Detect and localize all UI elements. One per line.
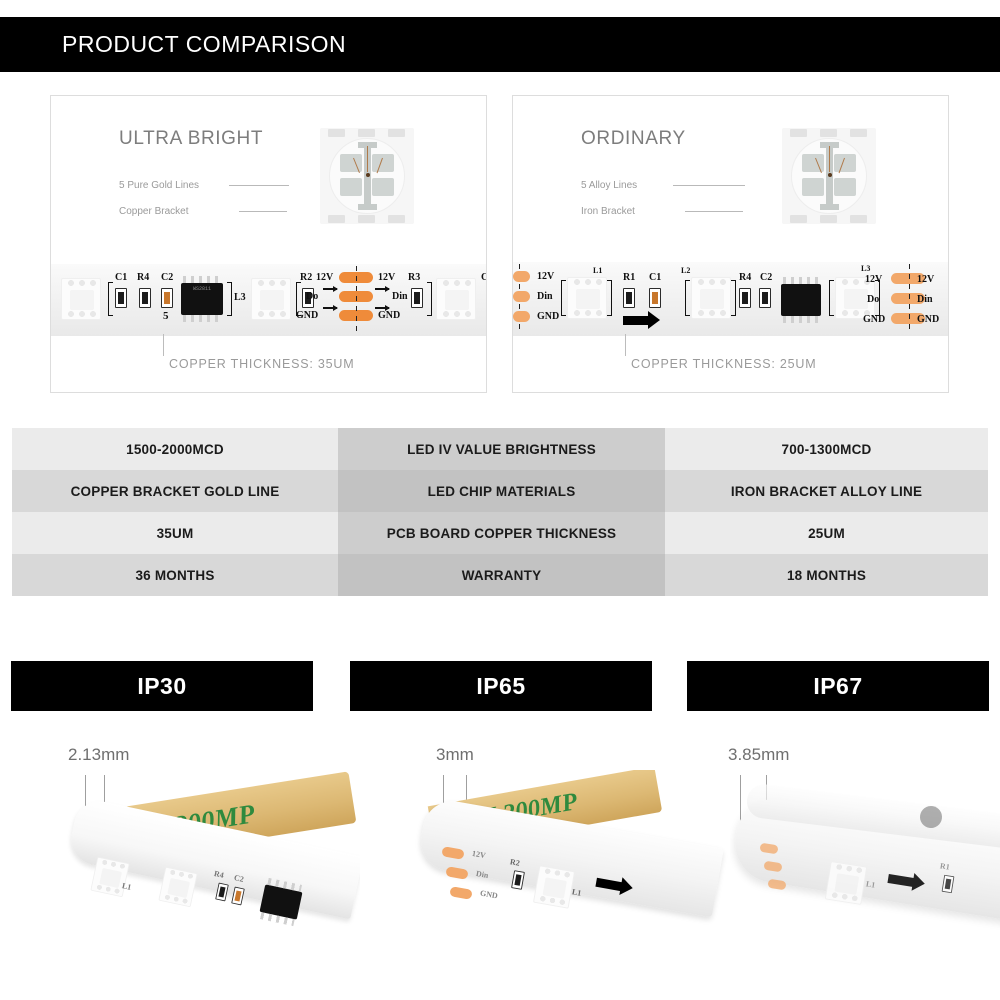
table-row: 36 MONTHS WARRANTY 18 MONTHS bbox=[12, 554, 988, 596]
pcb-label-gnd: GND bbox=[479, 889, 498, 901]
led-die bbox=[372, 178, 394, 196]
silkscreen-bracket bbox=[427, 282, 432, 316]
pcb-label-r4: R4 bbox=[739, 272, 751, 283]
smd-capacitor bbox=[649, 288, 661, 308]
pcb-strip-photo-ultra-bright: C1 R4 C2 5 WS2811 L3 R2 12V Do GND 12V D… bbox=[51, 264, 486, 336]
led-center-dot bbox=[366, 173, 370, 177]
pcb-label-r2: R2 bbox=[509, 857, 520, 868]
smd-capacitor bbox=[161, 288, 173, 308]
callout-copper-bracket: Copper Bracket bbox=[119, 206, 188, 217]
pcb-label-12v-2: 12V bbox=[865, 274, 882, 285]
copper-thickness-caption-left: COPPER THICKNESS: 35UM bbox=[169, 357, 354, 371]
led-pad bbox=[790, 215, 807, 223]
led-package bbox=[436, 278, 476, 320]
pcb-label-do: Do bbox=[867, 294, 879, 305]
silkscreen-bracket bbox=[561, 280, 566, 316]
iron-bracket-shape bbox=[820, 204, 839, 210]
led-pad bbox=[358, 215, 375, 223]
cut-line bbox=[909, 264, 910, 332]
signal-direction-arrow bbox=[323, 288, 337, 290]
table-row: COPPER BRACKET GOLD LINE LED CHIP MATERI… bbox=[12, 470, 988, 512]
led-package bbox=[825, 861, 867, 905]
cell-ultra-value: 36 MONTHS bbox=[12, 554, 338, 596]
led-die bbox=[834, 178, 856, 196]
pcb-strip-photo-ordinary: 12V Din GND L1 R1 C1 L2 R4 C2 L3 12V Do … bbox=[513, 262, 948, 336]
pcb-label-din: Din bbox=[392, 291, 408, 302]
signal-direction-arrow bbox=[375, 288, 389, 290]
smd-resistor bbox=[739, 288, 751, 308]
pcb-label-12v-right: 12V bbox=[378, 272, 395, 283]
leader-line bbox=[685, 211, 743, 212]
comparison-panel-ultra-bright: ULTRA BRIGHT 5 Pure Gold Lines Copper Br… bbox=[50, 95, 487, 393]
solder-pad-gnd bbox=[449, 886, 472, 900]
pcb-label-12v: 12V bbox=[537, 271, 554, 282]
thickness-pointer bbox=[625, 334, 626, 356]
cell-ultra-value: COPPER BRACKET GOLD LINE bbox=[12, 470, 338, 512]
pcb-label-din: Din bbox=[537, 291, 553, 302]
led-die bbox=[834, 154, 856, 172]
pcb-label-do: Do bbox=[306, 291, 318, 302]
callout-iron-bracket: Iron Bracket bbox=[581, 206, 635, 217]
page-title: PRODUCT COMPARISON bbox=[62, 31, 346, 58]
led-package bbox=[61, 278, 101, 320]
solder-pad-gnd bbox=[513, 311, 530, 322]
cell-attribute: LED IV VALUE BRIGHTNESS bbox=[338, 428, 665, 470]
ip-rating-badge-ip30: IP30 bbox=[11, 661, 313, 711]
ip-badge-label: IP65 bbox=[476, 673, 525, 700]
pcb-label-l1: L1 bbox=[571, 887, 582, 897]
pcb-label-r4: R4 bbox=[137, 272, 149, 283]
pcb-label-l1: L1 bbox=[121, 881, 132, 892]
led-package bbox=[533, 865, 575, 908]
pcb-label-l1: L1 bbox=[593, 266, 602, 275]
led-pad bbox=[850, 215, 867, 223]
smd-resistor bbox=[215, 883, 229, 902]
smd-resistor bbox=[511, 870, 525, 890]
driver-ic bbox=[781, 284, 821, 316]
led-pad bbox=[388, 129, 405, 137]
ip-rating-badge-ip65: IP65 bbox=[350, 661, 652, 711]
led-pad bbox=[820, 215, 837, 223]
pcb-label-gnd-right: GND bbox=[378, 310, 400, 321]
cell-ordinary-value: 25UM bbox=[665, 512, 988, 554]
led-pad bbox=[388, 215, 405, 223]
ws2811-ic: WS2811 bbox=[181, 283, 223, 315]
silkscreen-bracket bbox=[108, 282, 113, 316]
alloy-bond-wire bbox=[829, 146, 830, 172]
pcb-label-c2: C2 bbox=[161, 272, 173, 283]
pcb-label-12v-left: 12V bbox=[316, 272, 333, 283]
pcb-label-r1: R1 bbox=[623, 272, 635, 283]
smd-resistor bbox=[115, 288, 127, 308]
pcb-label-gnd-3: GND bbox=[917, 314, 939, 325]
cell-ordinary-value: 700-1300MCD bbox=[665, 428, 988, 470]
ic-marking: WS2811 bbox=[181, 286, 223, 292]
smd-resistor bbox=[411, 288, 423, 308]
cell-ordinary-value: 18 MONTHS bbox=[665, 554, 988, 596]
callout-alloy-lines: 5 Alloy Lines bbox=[581, 180, 637, 191]
smd-resistor bbox=[623, 288, 635, 308]
cell-attribute: LED CHIP MATERIALS bbox=[338, 470, 665, 512]
cell-ordinary-value: IRON BRACKET ALLOY LINE bbox=[665, 470, 988, 512]
pcb-label-l3: L3 bbox=[861, 264, 870, 273]
copper-bracket-shape bbox=[358, 204, 377, 210]
signal-direction-arrow bbox=[375, 307, 389, 309]
led-package bbox=[158, 867, 197, 908]
gold-bond-wire bbox=[367, 146, 368, 172]
pcb-label-l3: L3 bbox=[234, 292, 246, 303]
cell-ultra-value: 35UM bbox=[12, 512, 338, 554]
specification-comparison-table: 1500-2000MCD LED IV VALUE BRIGHTNESS 700… bbox=[12, 428, 988, 596]
copper-thickness-caption-right: COPPER THICKNESS: 25UM bbox=[631, 357, 816, 371]
led-pad bbox=[328, 129, 345, 137]
silkscreen-bracket bbox=[685, 280, 690, 316]
pcb-label-c2: C2 bbox=[760, 272, 772, 283]
silkscreen-bracket bbox=[227, 282, 232, 316]
table-row: 1500-2000MCD LED IV VALUE BRIGHTNESS 700… bbox=[12, 428, 988, 470]
led-package bbox=[567, 277, 607, 319]
pcb-label-r2: R2 bbox=[300, 272, 312, 283]
pcb-label-l1: L1 bbox=[865, 879, 876, 889]
led-package bbox=[90, 857, 129, 898]
smd-capacitor bbox=[231, 887, 245, 906]
cell-ultra-value: 1500-2000MCD bbox=[12, 428, 338, 470]
leader-line bbox=[239, 211, 287, 212]
smd-resistor bbox=[139, 288, 151, 308]
panel-title-ultra-bright: ULTRA BRIGHT bbox=[119, 128, 263, 150]
ip-badge-label: IP67 bbox=[813, 673, 862, 700]
pcb-label-12v-3: 12V bbox=[917, 274, 934, 285]
led-center-dot bbox=[828, 173, 832, 177]
silkscreen-bracket bbox=[829, 280, 834, 316]
smd-capacitor bbox=[759, 288, 771, 308]
thickness-label-ip30: 2.13mm bbox=[68, 745, 129, 765]
pcb-label-r4: R4 bbox=[213, 869, 224, 880]
table-row: 35UM PCB BOARD COPPER THICKNESS 25UM bbox=[12, 512, 988, 554]
panel-title-ordinary: ORDINARY bbox=[581, 128, 686, 150]
led-chip-diagram-ordinary bbox=[782, 128, 876, 224]
cell-attribute: WARRANTY bbox=[338, 554, 665, 596]
pcb-label-c2: C2 bbox=[233, 873, 244, 884]
pcb-label-gnd-2: GND bbox=[863, 314, 885, 325]
comparison-panel-ordinary: ORDINARY 5 Alloy Lines Iron Bracket 12V … bbox=[512, 95, 949, 393]
led-pad bbox=[328, 215, 345, 223]
strip-photo-ip30: 3M 200MP L1 R4 C2 bbox=[30, 770, 360, 985]
solder-pad-gnd bbox=[767, 879, 786, 891]
cut-line bbox=[356, 266, 357, 332]
ip-rating-badge-ip67: IP67 bbox=[687, 661, 989, 711]
pcb-label-5: 5 bbox=[163, 310, 169, 322]
solder-pad-data bbox=[513, 291, 530, 302]
led-die bbox=[802, 178, 824, 196]
strip-photo-ip65: 3M 200MP 12V Din GND R2 L1 bbox=[400, 770, 730, 985]
driver-ic bbox=[260, 884, 303, 919]
thickness-label-ip67: 3.85mm bbox=[728, 745, 789, 765]
thickness-label-ip65: 3mm bbox=[436, 745, 474, 765]
pcb-label-din: Din bbox=[475, 869, 489, 880]
silkscreen-bracket bbox=[731, 280, 736, 316]
strip-photo-ip67: L1 R1 bbox=[730, 770, 1000, 985]
signal-direction-arrow bbox=[323, 307, 337, 309]
direction-arrow bbox=[623, 316, 649, 325]
silkscreen-bracket bbox=[607, 280, 612, 316]
solder-pad-12v bbox=[513, 271, 530, 282]
led-die bbox=[372, 154, 394, 172]
led-die bbox=[340, 178, 362, 196]
pcb-label-gnd-left: GND bbox=[296, 310, 318, 321]
pcb-label-r1: R1 bbox=[939, 861, 950, 871]
led-package bbox=[691, 277, 731, 319]
pcb-label-din-2: Din bbox=[917, 294, 933, 305]
leader-line bbox=[673, 185, 745, 186]
pcb-label-c1-2: C1 bbox=[481, 272, 486, 283]
led-pad bbox=[358, 129, 375, 137]
leader-line bbox=[229, 185, 289, 186]
led-pad bbox=[850, 129, 867, 137]
pcb-label-c1: C1 bbox=[115, 272, 127, 283]
pcb-label-c1: C1 bbox=[649, 272, 661, 283]
page-header-bar: PRODUCT COMPARISON bbox=[0, 17, 1000, 72]
led-chip-diagram-ultra-bright bbox=[320, 128, 414, 224]
thickness-pointer bbox=[163, 334, 164, 356]
ip-badge-label: IP30 bbox=[137, 673, 186, 700]
led-pad bbox=[790, 129, 807, 137]
callout-gold-lines: 5 Pure Gold Lines bbox=[119, 180, 199, 191]
pcb-label-gnd: GND bbox=[537, 311, 559, 322]
led-package bbox=[251, 278, 291, 320]
pcb-label-r3: R3 bbox=[408, 272, 420, 283]
pcb-label-l2: L2 bbox=[681, 266, 690, 275]
led-pad bbox=[820, 129, 837, 137]
cell-attribute: PCB BOARD COPPER THICKNESS bbox=[338, 512, 665, 554]
